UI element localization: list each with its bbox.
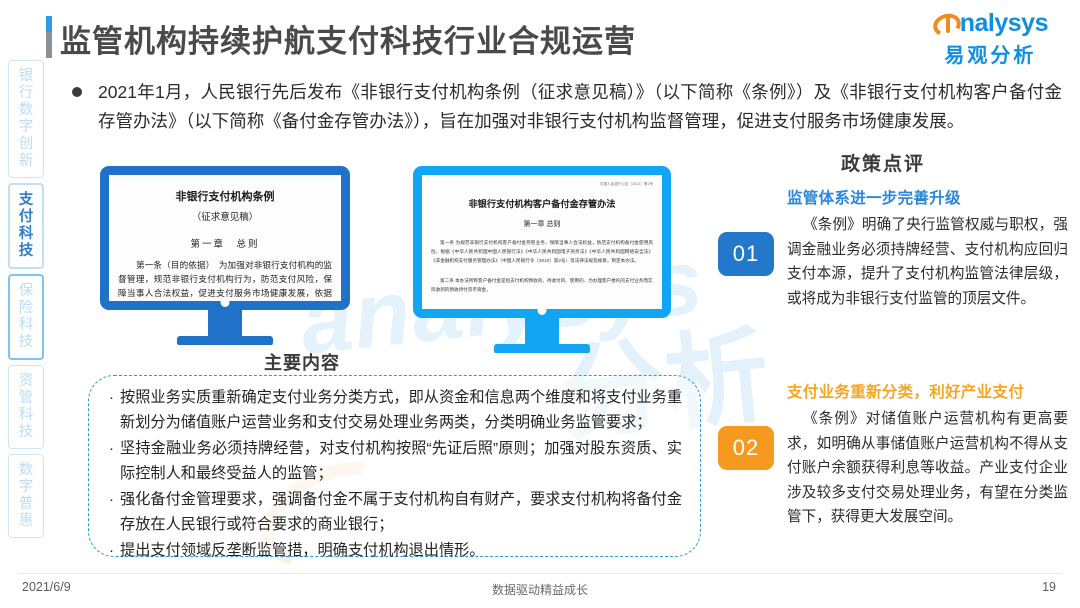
monitor-right: 中国人民银行公告〔2021〕第1号 非银行支付机构客户备付金存管办法 第一章 总… [413,166,671,353]
sidebar-nav: 银 行 数 字 创 新 支 付 科 技 保 险 科 技 资 管 科 技 数 字 [8,60,46,543]
logo-wordmark-row: nalysys [933,8,1048,38]
doc-right-body-2: 第二条 本办法所称客户备付金是指支付机构预收的、待收付的、使用的、为办理客户委托… [431,276,653,294]
footer-slogan: 数据驱动精益成长 [0,581,1080,598]
monitor-left-neck [208,310,242,336]
monitor-left-base [177,336,273,345]
policy-badge-01: 01 [718,232,774,276]
list-item-text: 提出支付领域反垄断监管措，明确支付机构退出情形。 [120,538,485,563]
list-bullet-icon: · [109,538,120,563]
page-title: 监管机构持续护航支付科技行业合规运营 [60,16,636,61]
sidebar-item-label: 技 [10,334,42,351]
list-item-text: 强化备付金管理要求，强调备付金不属于支付机构自有财产，要求支付机构将备付金存放在… [120,487,682,537]
logo-cn-name: 易观分析 [933,39,1048,68]
title-accent-bar [46,16,52,58]
sidebar-item-label: 支 [10,192,42,209]
bullet-dot-icon [72,87,82,97]
doc-left-chapter: 第一章 总则 [118,236,332,250]
monitor-right-bezel: 中国人民银行公告〔2021〕第1号 非银行支付机构客户备付金存管办法 第一章 总… [413,166,671,318]
list-bullet-icon: · [109,436,120,486]
list-bullet-icon: · [109,385,120,435]
sidebar-item-label: 字 [9,479,43,496]
monitor-left-screen: 非银行支付机构条例 （征求意见稿） 第一章 总则 第一条（目的依据） 为加强对非… [109,175,341,301]
sidebar-item-payment-tech[interactable]: 支 付 科 技 [8,183,44,269]
list-item: · 提出支付领域反垄断监管措，明确支付机构退出情形。 [109,538,682,563]
sidebar-item-bank-digital[interactable]: 银 行 数 字 创 新 [8,60,44,178]
doc-left-body: 第一条（目的依据） 为加强对非银行支付机构的监督管理，规范非银行支付机构行为，防… [118,258,332,301]
monitor-right-screen: 中国人民银行公告〔2021〕第1号 非银行支付机构客户备付金存管办法 第一章 总… [422,175,662,309]
intro-bullet-text: 2021年1月，人民银行先后发布《非银行支付机构条例（征求意见稿）》（以下简称《… [98,78,1062,136]
sidebar-item-digital-inclusive[interactable]: 数 字 普 惠 [8,454,44,538]
monitor-right-base [494,344,590,353]
doc-right-title: 非银行支付机构客户备付金存管办法 [431,196,653,210]
sidebar-item-label: 资 [9,373,43,390]
logo-wordmark: nalysys [960,10,1048,36]
list-bullet-icon: · [109,487,120,537]
list-item: · 坚持金融业务必须持牌经营，对支付机构按照“先证后照”原则；加强对股东资质、实… [109,436,682,486]
doc-right-stamp: 中国人民银行公告〔2021〕第1号 [431,182,653,187]
sidebar-item-label: 数 [9,462,43,479]
sidebar-item-label: 技 [9,424,43,441]
policy-badge-02: 02 [718,426,774,470]
title-accent-top [46,16,52,32]
doc-left-title: 非银行支付机构条例 [118,188,332,204]
title-accent-bottom [46,32,52,58]
policy-heading-02: 支付业务重新分类，利好产业支付 [787,380,1068,402]
sidebar-item-label: 银 [9,68,43,85]
policy-body-02: 《条例》对储值账户运营机构有更高要求，如明确从事储值账户运营机构不得从支付账户余… [787,407,1068,530]
doc-right-body: 第一条 为规范非银行支付机构客户备付金存管业务，保障当事人合法权益，防范支付机构… [431,238,653,265]
main-content-box: · 按照业务实质重新确定支付业务分类方式，即从资金和信息两个维度和将支付业务重新… [88,375,701,557]
policy-heading-01: 监管体系进一步完善升级 [787,186,1068,208]
sidebar-item-label: 行 [9,85,43,102]
list-item-text: 坚持金融业务必须持牌经营，对支付机构按照“先证后照”原则；加强对股东资质、实际控… [120,436,682,486]
footer-divider [18,573,1062,574]
sidebar-item-label: 付 [10,209,42,226]
list-item: · 强化备付金管理要求，强调备付金不属于支付机构自有财产，要求支付机构将备付金存… [109,487,682,537]
sidebar-item-label: 科 [10,317,42,334]
sidebar-item-label: 管 [9,390,43,407]
doc-left-subtitle: （征求意见稿） [118,209,332,223]
sidebar-item-label: 科 [10,226,42,243]
footer-page-number: 19 [1042,580,1056,594]
policy-block-01: 01 监管体系进一步完善升级 《条例》明确了央行监管权威与职权，强调金融业务必须… [718,186,1068,311]
sidebar-item-label: 创 [9,136,43,153]
sidebar-item-label: 普 [9,496,43,513]
sidebar-item-label: 保 [10,283,42,300]
policy-block-02: 02 支付业务重新分类，利好产业支付 《条例》对储值账户运营机构有更高要求，如明… [718,380,1068,530]
slide-canvas: analysys 分析 监管机构持续护航支付科技行业合规运营 nalysys 易… [0,0,1080,608]
main-content-heading: 主要内容 [264,349,340,375]
brand-logo: nalysys 易观分析 [933,8,1048,68]
policy-panel-title: 政策点评 [841,149,925,176]
monitor-left: 非银行支付机构条例 （征求意见稿） 第一章 总则 第一条（目的依据） 为加强对非… [100,166,350,345]
sidebar-item-label: 险 [10,300,42,317]
sidebar-item-label: 惠 [9,513,43,530]
list-item-text: 按照业务实质重新确定支付业务分类方式，即从资金和信息两个维度和将支付业务重新划分… [120,385,682,435]
monitor-right-neck [525,318,559,344]
monitor-right-power-dot-icon [538,306,547,315]
intro-bullet: 2021年1月，人民银行先后发布《非银行支付机构条例（征求意见稿）》（以下简称《… [72,78,1062,136]
monitor-left-power-dot-icon [221,298,230,307]
list-item: · 按照业务实质重新确定支付业务分类方式，即从资金和信息两个维度和将支付业务重新… [109,385,682,435]
sidebar-item-insurance-tech[interactable]: 保 险 科 技 [8,274,44,360]
sidebar-item-label: 技 [10,243,42,260]
monitor-left-bezel: 非银行支付机构条例 （征求意见稿） 第一章 总则 第一条（目的依据） 为加强对非… [100,166,350,310]
logo-swoosh-icon [933,12,959,34]
sidebar-item-label: 数 [9,102,43,119]
policy-body-01: 《条例》明确了央行监管权威与职权，强调金融业务必须持牌经营、支付机构应回归支付本… [787,213,1068,311]
doc-right-chapter: 第一章 总则 [431,219,653,229]
sidebar-item-label: 新 [9,153,43,170]
sidebar-item-label: 科 [9,407,43,424]
sidebar-item-asset-tech[interactable]: 资 管 科 技 [8,365,44,449]
sidebar-item-label: 字 [9,119,43,136]
